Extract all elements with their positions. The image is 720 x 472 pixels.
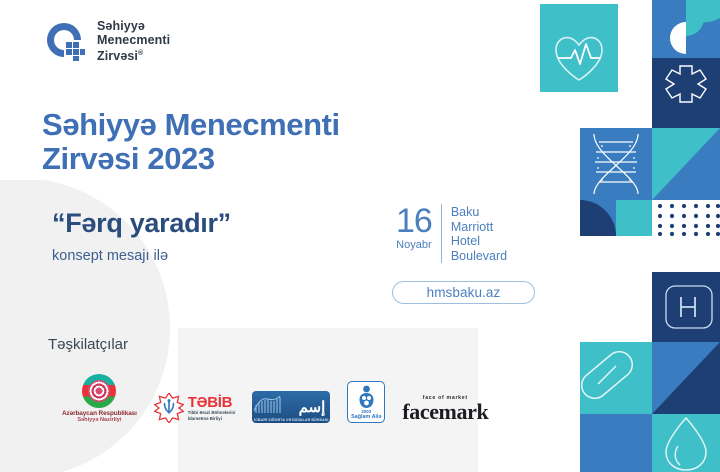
tebib-wordmark-block: TƏBİB Tibbi Ərazi Bölmələrini İdarəetmə … <box>188 395 236 420</box>
page-title: Səhiyyə Menecmenti Zirvəsi 2023 <box>42 108 340 176</box>
isim-wordmark: إسم <box>299 400 326 415</box>
event-date-venue: 16 Noyabr Baku Marriott Hotel Boulevard <box>396 204 507 263</box>
registered-mark: ® <box>138 50 143 57</box>
tebib-subtitle: Tibbi Ərazi Bölmələrini İdarəetmə Birliy… <box>188 410 236 420</box>
brand-logo: Səhiyyə Menecmenti Zirvəsi® <box>44 20 170 64</box>
saglam-aile-family-icon <box>356 385 377 409</box>
tagline-subtitle: konsept mesajı ilə <box>52 248 168 264</box>
tagline-quote: “Fərq yaradır” <box>52 208 231 238</box>
organizer-logo-facemark: face of market facemark <box>402 395 488 423</box>
organizer-logo-isim: إسم İCBARİ SIĞORTA VƏ İDDİALAR BÖRSASI <box>252 391 330 423</box>
event-day: 16 <box>396 204 432 238</box>
organizers-label: Təşkilatçılar <box>48 336 128 353</box>
isim-footer: İCBARİ SIĞORTA VƏ İDDİALAR BÖRSASI <box>252 418 330 422</box>
organizer-logo-saglam-aile: 2003 Sağlam Ailə <box>347 381 385 423</box>
website-url: hmsbaku.az <box>427 285 501 300</box>
website-pill[interactable]: hmsbaku.az <box>392 281 535 304</box>
saglam-aile-wordmark: Sağlam Ailə <box>351 414 381 420</box>
organizer-caption-line2: Səhiyyə Nazirliyi <box>77 417 121 423</box>
facemark-wordmark: facemark <box>402 401 488 423</box>
organizer-caption-line1: Azərbaycan Respublikası <box>62 410 137 417</box>
event-venue: Baku Marriott Hotel Boulevard <box>451 204 507 263</box>
tebib-wordmark: TƏBİB <box>188 395 236 410</box>
event-month: Noyabr <box>396 238 432 253</box>
organizers-row: Azərbaycan Respublikası Səhiyyə Nazirliy… <box>62 374 488 423</box>
event-date: 16 Noyabr <box>396 204 432 263</box>
decorative-pattern-grid <box>540 0 720 472</box>
tebib-star-icon <box>154 393 184 423</box>
organizer-logo-ministry-of-health: Azərbaycan Respublikası Səhiyyə Nazirliy… <box>62 374 137 423</box>
azerbaijan-emblem-icon <box>82 374 116 408</box>
q-pixel-logo-icon <box>44 20 88 64</box>
poster-canvas: Səhiyyə Menecmenti Zirvəsi® Səhiyyə Mene… <box>0 0 720 472</box>
brand-logo-text: Səhiyyə Menecmenti Zirvəsi® <box>97 20 170 64</box>
organizer-logo-tebib: TƏBİB Tibbi Ərazi Bölmələrini İdarəetmə … <box>154 393 236 423</box>
brand-logo-lines: Səhiyyə Menecmenti Zirvəsi <box>97 19 170 63</box>
isim-wave-icon <box>254 395 294 415</box>
vertical-divider <box>441 204 442 263</box>
